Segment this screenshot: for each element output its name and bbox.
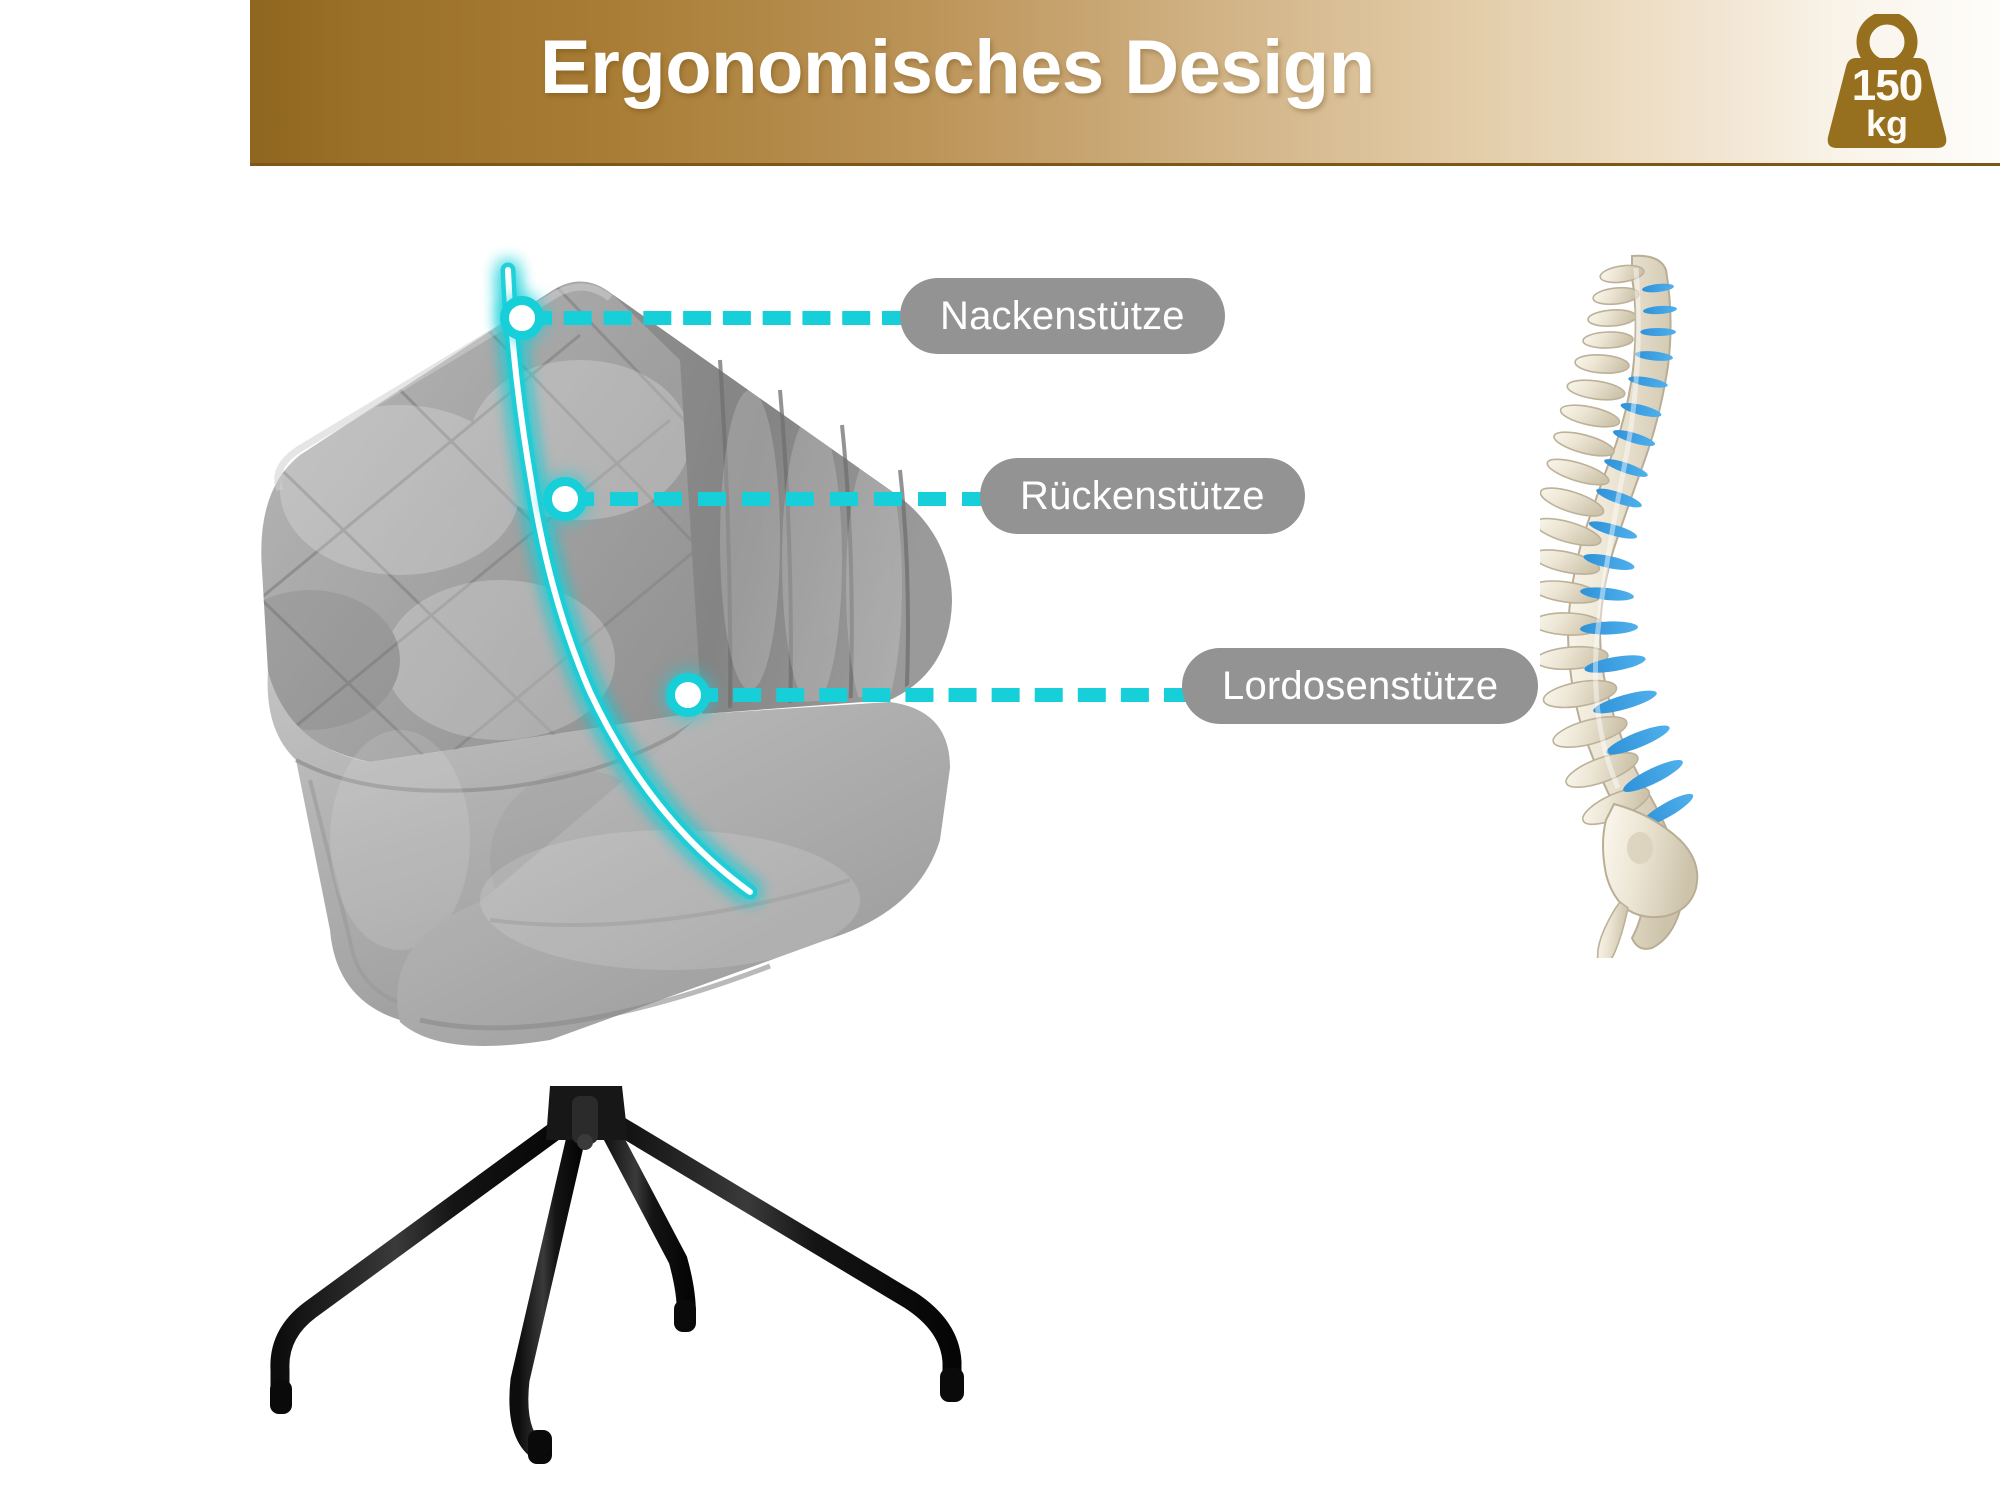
chair-base-legs	[280, 1116, 952, 1452]
header-band: Ergonomisches Design 150 kg	[250, 0, 2000, 166]
leader-line-back	[566, 492, 990, 506]
chair-foot-caps	[270, 1300, 964, 1464]
spine-anatomy-illustration	[1540, 248, 1770, 958]
marker-dot-back[interactable]	[543, 477, 587, 521]
chair-illustration	[250, 240, 1250, 1470]
weight-capacity-badge: 150 kg	[1822, 14, 1952, 154]
marker-dot-neck[interactable]	[500, 296, 544, 340]
leader-line-neck	[524, 311, 910, 325]
product-chair-image	[250, 240, 1250, 1470]
callout-label-lordosis[interactable]: Lordosenstütze	[1182, 648, 1538, 724]
callout-label-back[interactable]: Rückenstütze	[980, 458, 1305, 534]
weight-unit: kg	[1822, 106, 1952, 142]
weight-value: 150	[1822, 64, 1952, 108]
callout-label-neck[interactable]: Nackenstütze	[900, 278, 1225, 354]
spine-lateral-svg	[1540, 248, 1770, 958]
marker-dot-lordosis[interactable]	[666, 673, 710, 717]
leader-line-lordosis	[690, 688, 1192, 702]
page-title: Ergonomisches Design	[540, 24, 1375, 111]
